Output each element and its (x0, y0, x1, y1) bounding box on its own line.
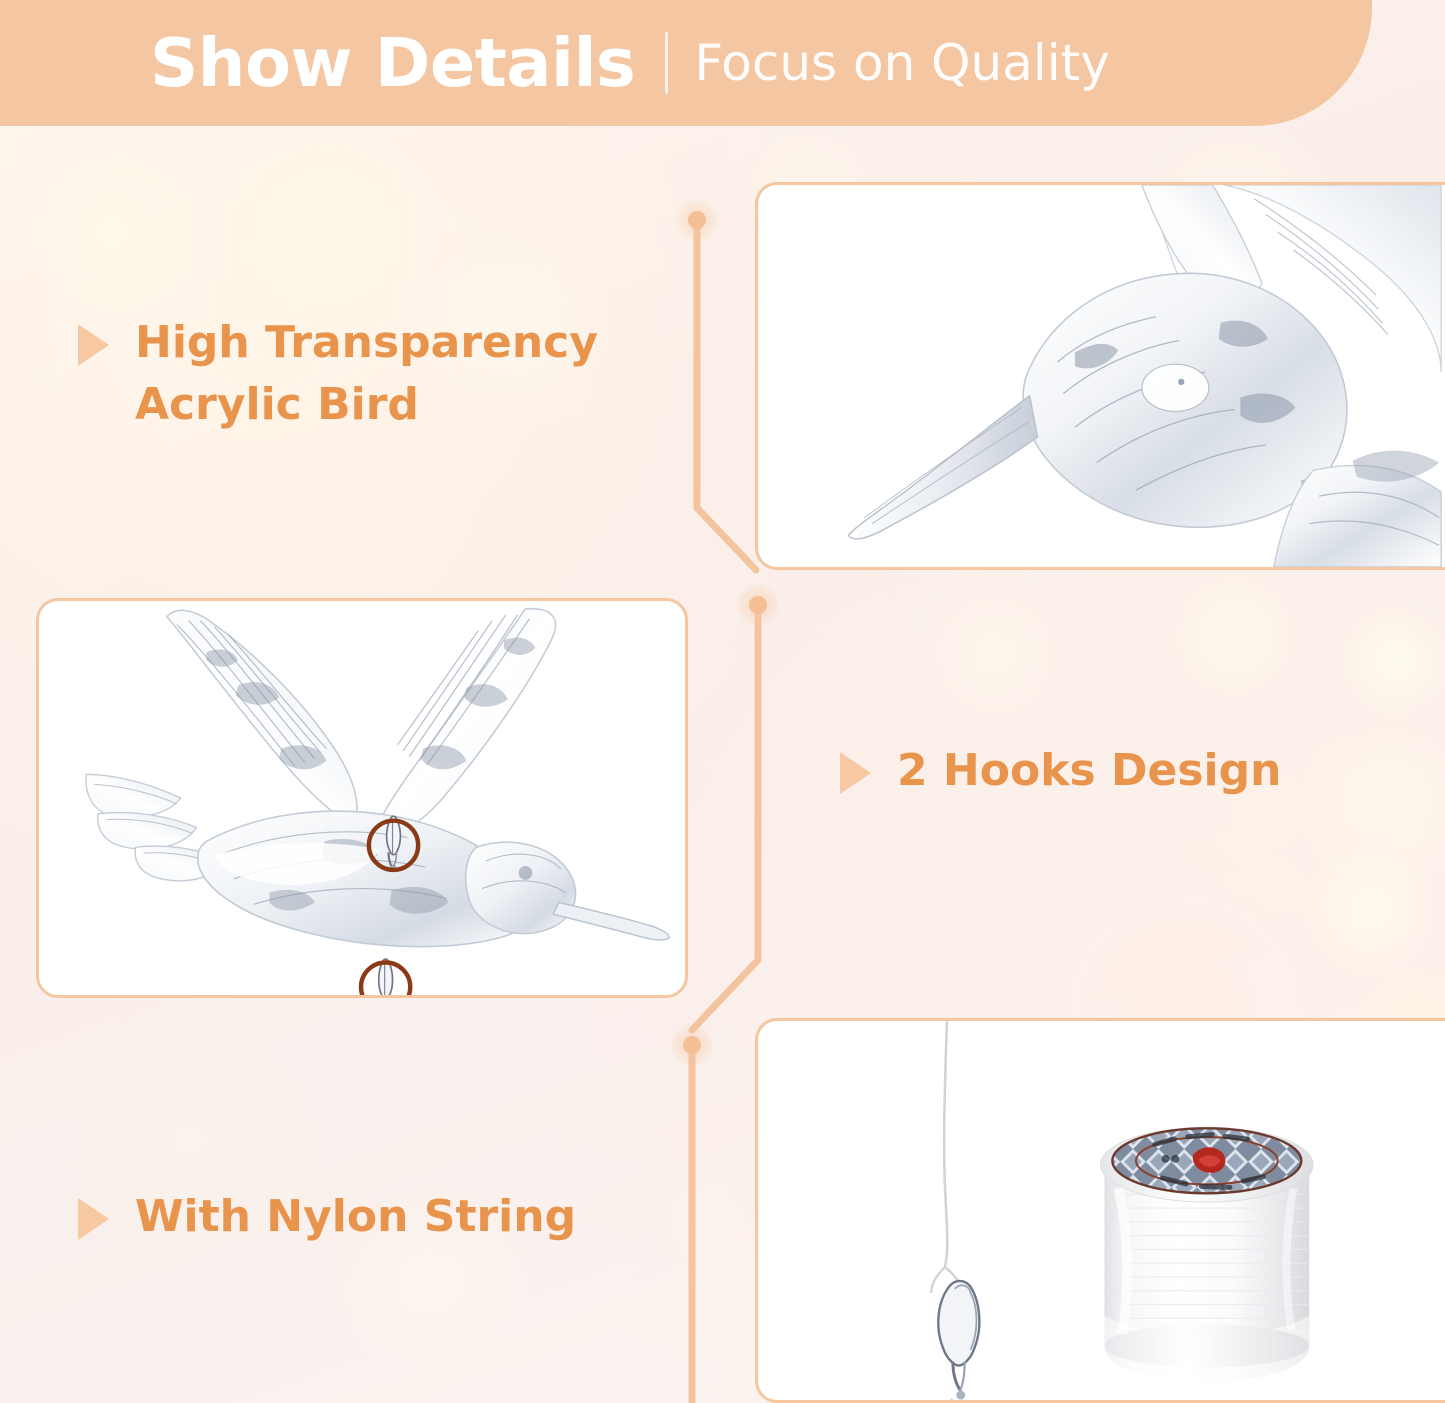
header-divider (665, 32, 668, 94)
infographic-page: Show Details Focus on Quality High Trans… (0, 0, 1445, 1403)
acrylic-hummingbird-head-image (758, 185, 1445, 567)
triangle-bullet-icon (78, 1198, 109, 1240)
photo-panel-nylon-string (755, 1018, 1445, 1403)
node-core (688, 211, 706, 229)
feature-nylon-string: With Nylon String (78, 1186, 576, 1248)
feature-high-transparency: High Transparency Acrylic Bird (78, 312, 598, 437)
photo-panel-full-bird (36, 598, 688, 998)
photo-panel-bird-head (755, 182, 1445, 570)
feature-label: High Transparency Acrylic Bird (135, 312, 598, 437)
acrylic-hummingbird-full-image (39, 601, 685, 995)
node-core (683, 1036, 701, 1054)
feature-label: 2 Hooks Design (897, 740, 1281, 802)
feature-two-hooks: 2 Hooks Design (840, 740, 1281, 802)
feature-label: With Nylon String (135, 1186, 576, 1248)
node-core (749, 596, 767, 614)
page-title: Show Details (150, 30, 635, 97)
triangle-bullet-icon (78, 324, 109, 366)
nylon-string-spool-image (758, 1021, 1445, 1400)
page-subtitle: Focus on Quality (694, 38, 1110, 88)
header-banner: Show Details Focus on Quality (0, 0, 1372, 126)
triangle-bullet-icon (840, 752, 871, 794)
